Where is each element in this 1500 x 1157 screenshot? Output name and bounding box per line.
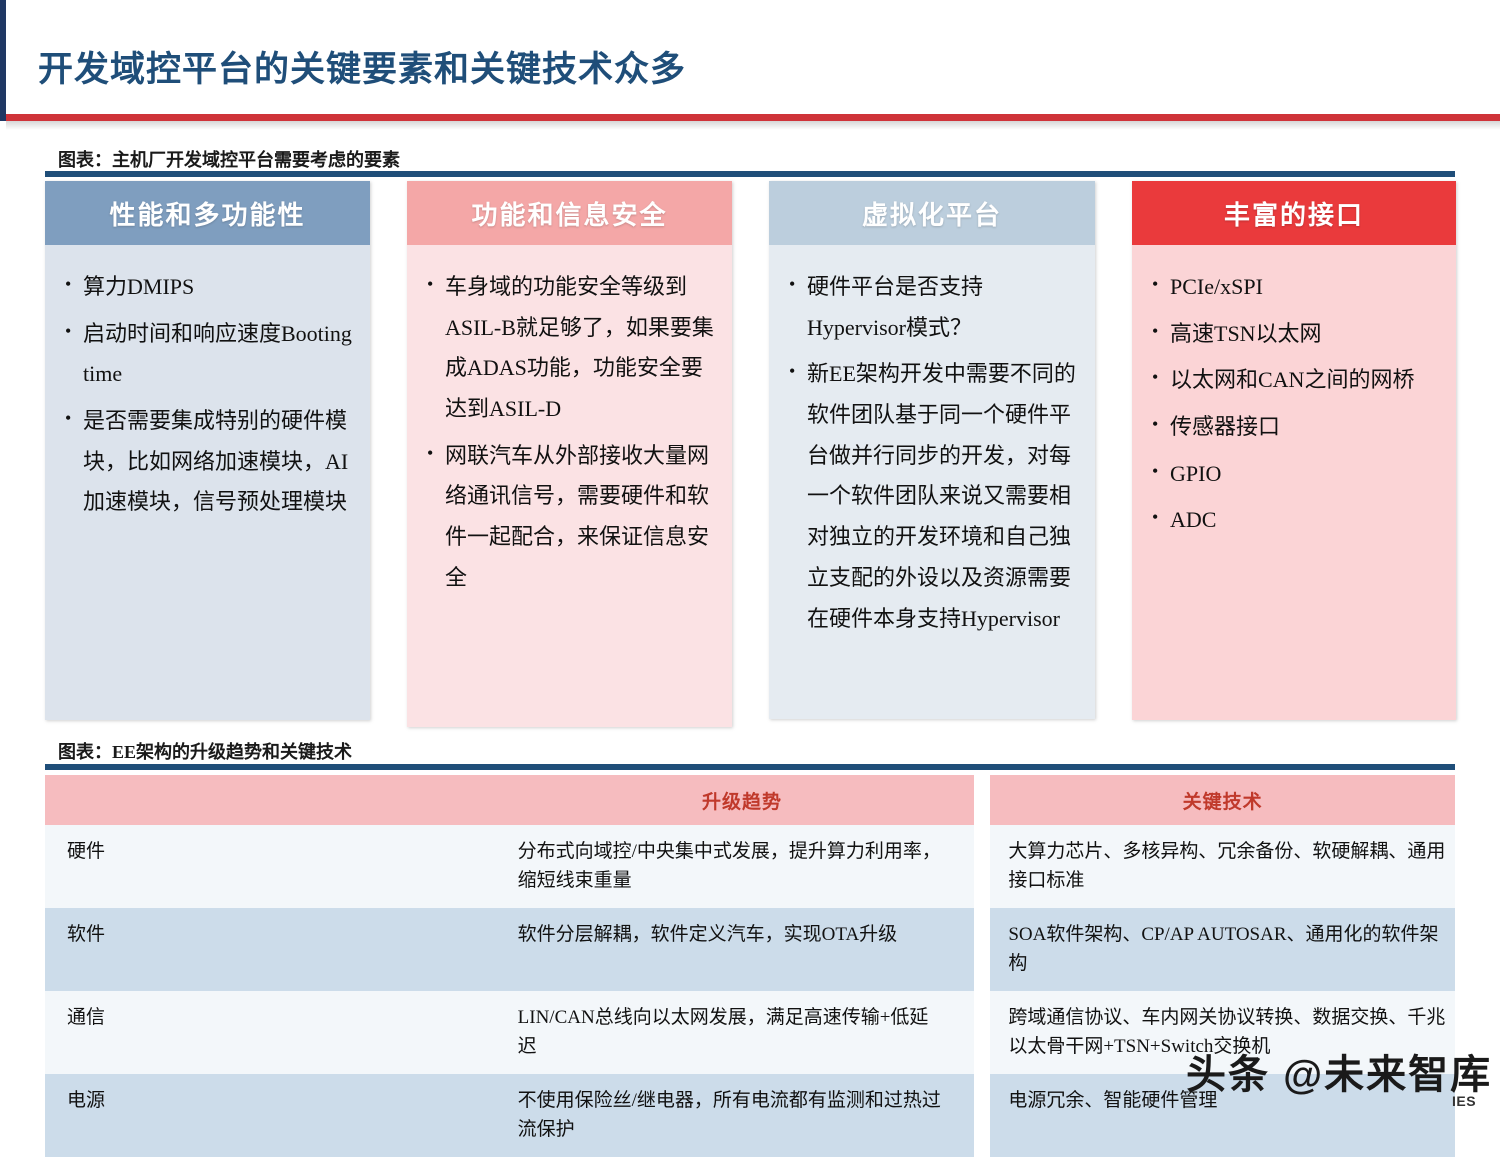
list-item: PCIe/xSPI [1150,267,1438,308]
cell-trend: LIN/CAN总线向以太网发展，满足高速传输+低延迟 [510,991,975,1074]
factor-bullet-list: 车身域的功能安全等级到ASIL-B就足够了，如果要集成ADAS功能，功能安全要达… [425,267,714,599]
list-item: 硬件平台是否支持Hypervisor模式？ [787,267,1077,348]
cell-category: 硬件 [45,825,510,908]
left-edge-accent-strip [0,0,6,121]
list-item: ADC [1150,500,1438,541]
row-separator [974,1074,990,1157]
list-item: 高速TSN以太网 [1150,314,1438,355]
table-body: 硬件 分布式向域控/中央集中式发展，提升算力利用率，缩短线束重量 大算力芯片、多… [45,825,1455,1157]
list-item: 新EE架构开发中需要不同的软件团队基于同一个硬件平台做并行同步的开发，对每一个软… [787,354,1077,639]
list-item: 传感器接口 [1150,407,1438,448]
factor-card-title: 功能和信息安全 [407,181,732,245]
row-separator [974,825,990,908]
column-header-category [45,775,510,825]
factor-bullet-list: 算力DMIPS 启动时间和响应速度Booting time 是否需要集成特别的硬… [63,267,352,523]
factor-card-body: 硬件平台是否支持Hypervisor模式？ 新EE架构开发中需要不同的软件团队基… [769,245,1095,719]
title-divider-shadow [6,121,1500,130]
table-header-row: 升级趋势 关键技术 [45,775,1455,825]
exhibit1-rule [45,171,1455,177]
list-item: 是否需要集成特别的硬件模块，比如网络加速模块，AI加速模块，信号预处理模块 [63,401,352,523]
factor-bullet-list: 硬件平台是否支持Hypervisor模式？ 新EE架构开发中需要不同的软件团队基… [787,267,1077,639]
row-separator [974,908,990,991]
watermark-text: 头条 @未来智库 [1186,1042,1492,1100]
cell-trend: 不使用保险丝/继电器，所有电流都有监测和过热过流保护 [510,1074,975,1157]
exhibit2-rule [45,764,1455,770]
exhibit2-caption: 图表：EE架构的升级趋势和关键技术 [58,738,352,764]
list-item: 启动时间和响应速度Booting time [63,314,352,395]
column-header-trend: 升级趋势 [510,775,975,825]
factor-card-interfaces: 丰富的接口 PCIe/xSPI 高速TSN以太网 以太网和CAN之间的网桥 传感… [1132,181,1456,720]
column-header-tech: 关键技术 [990,775,1455,825]
cell-category: 软件 [45,908,510,991]
factor-card-body: 车身域的功能安全等级到ASIL-B就足够了，如果要集成ADAS功能，功能安全要达… [407,245,732,727]
factor-card-body: 算力DMIPS 启动时间和响应速度Booting time 是否需要集成特别的硬… [45,245,370,720]
cell-tech: SOA软件架构、CP/AP AUTOSAR、通用化的软件架构 [990,908,1455,991]
row-separator [974,991,990,1074]
column-separator [974,775,990,825]
page-title: 开发域控平台的关键要素和关键技术众多 [38,41,686,92]
list-item: 算力DMIPS [63,267,352,308]
watermark-subtext: IES [1452,1093,1476,1109]
cell-trend: 软件分层解耦，软件定义汽车，实现OTA升级 [510,908,975,991]
table-row: 软件 软件分层解耦，软件定义汽车，实现OTA升级 SOA软件架构、CP/AP A… [45,908,1455,991]
factor-card-title: 丰富的接口 [1132,181,1456,245]
list-item: 车身域的功能安全等级到ASIL-B就足够了，如果要集成ADAS功能，功能安全要达… [425,267,714,430]
factor-card-title: 虚拟化平台 [769,181,1095,245]
table-head: 升级趋势 关键技术 [45,775,1455,825]
title-divider-rule [6,114,1500,121]
table-row: 硬件 分布式向域控/中央集中式发展，提升算力利用率，缩短线束重量 大算力芯片、多… [45,825,1455,908]
list-item: 网联汽车从外部接收大量网络通讯信号，需要硬件和软件一起配合，来保证信息安全 [425,436,714,599]
factor-card-safety: 功能和信息安全 车身域的功能安全等级到ASIL-B就足够了，如果要集成ADAS功… [407,181,732,727]
factor-card-virtualization: 虚拟化平台 硬件平台是否支持Hypervisor模式？ 新EE架构开发中需要不同… [769,181,1095,719]
factor-bullet-list: PCIe/xSPI 高速TSN以太网 以太网和CAN之间的网桥 传感器接口 GP… [1150,267,1438,541]
cell-category: 通信 [45,991,510,1074]
cell-category: 电源 [45,1074,510,1157]
exhibit1-caption: 图表：主机厂开发域控平台需要考虑的要素 [58,146,400,172]
list-item: GPIO [1150,454,1438,495]
list-item: 以太网和CAN之间的网桥 [1150,360,1438,401]
factor-card-title: 性能和多功能性 [45,181,370,245]
cell-tech: 大算力芯片、多核异构、冗余备份、软硬解耦、通用接口标准 [990,825,1455,908]
factor-card-body: PCIe/xSPI 高速TSN以太网 以太网和CAN之间的网桥 传感器接口 GP… [1132,245,1456,720]
factor-card-performance: 性能和多功能性 算力DMIPS 启动时间和响应速度Booting time 是否… [45,181,370,720]
cell-trend: 分布式向域控/中央集中式发展，提升算力利用率，缩短线束重量 [510,825,975,908]
